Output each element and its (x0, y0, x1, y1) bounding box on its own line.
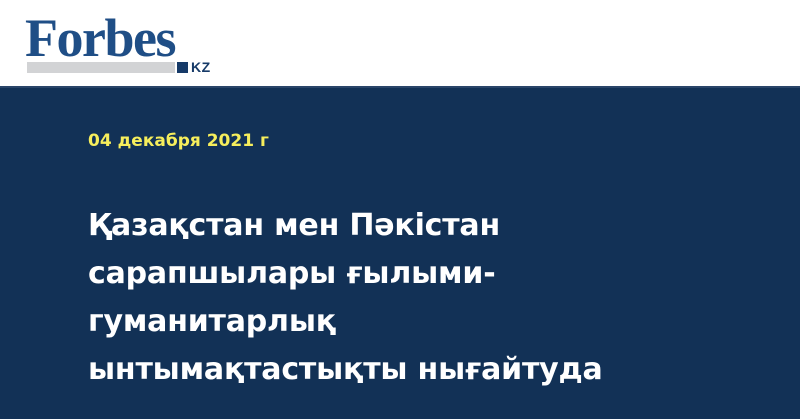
forbes-kz-logo[interactable]: Forbes KZ (25, 11, 225, 77)
article-hero: 04 декабря 2021 г Қазақстан мен Пәкістан… (0, 86, 800, 419)
logo-underbar (27, 62, 175, 73)
square-icon (177, 62, 188, 73)
article-headline[interactable]: Қазақстан мен Пәкістан сарапшылары ғылым… (88, 202, 608, 394)
article-preview-card: Forbes KZ 04 декабря 2021 г Қазақстан ме… (0, 0, 800, 419)
forbes-wordmark: Forbes (25, 11, 175, 65)
logo-kz-mark: KZ (177, 60, 211, 74)
publication-date: 04 декабря 2021 г (88, 131, 269, 151)
logo-kz-label: KZ (191, 60, 211, 74)
site-header: Forbes KZ (0, 0, 800, 86)
